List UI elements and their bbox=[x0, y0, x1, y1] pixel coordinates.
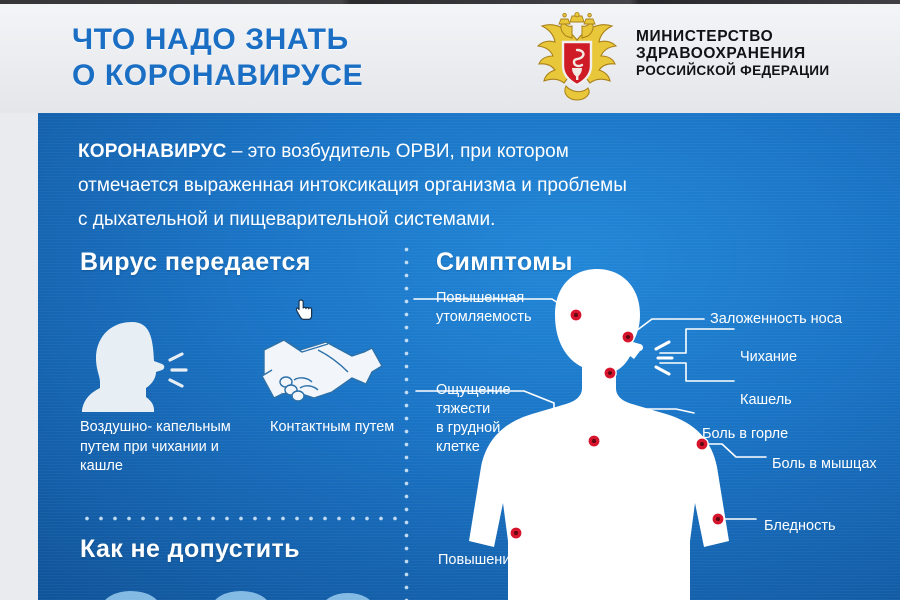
prevention-icon-1 bbox=[102, 591, 160, 600]
symptom-label-sneezing: Чихание bbox=[740, 348, 797, 367]
prevention-icon-2 bbox=[212, 591, 270, 600]
russian-double-headed-eagle-emblem bbox=[528, 12, 626, 104]
ministry-name: МИНИСТЕРСТВО ЗДРАВООХРАНЕНИЯ РОССИЙСКОЙ … bbox=[636, 28, 829, 79]
symptom-label-pallor: Бледность bbox=[764, 517, 836, 536]
page-title-line2: О КОРОНАВИРУСЕ bbox=[72, 58, 502, 94]
intro-line-1: КОРОНАВИРУС – это возбудитель ОРВИ, при … bbox=[78, 135, 868, 169]
prevention-icon-3 bbox=[322, 593, 374, 600]
handshake-icon bbox=[260, 326, 384, 417]
page-title: ЧТО НАДО ЗНАТЬ О КОРОНАВИРУСЕ bbox=[72, 22, 502, 94]
symptom-label-sore-throat: Боль в горле bbox=[702, 425, 788, 444]
symptom-label-fever-chills: Повышение температуры, озноб bbox=[438, 551, 658, 570]
pointing-hand-cursor bbox=[296, 299, 313, 321]
symptom-label-chest-heaviness: Ощущение тяжести в грудной клетке bbox=[436, 381, 511, 457]
caption-airborne: Воздушно- капельным путем при чихании и … bbox=[80, 418, 255, 477]
symptom-label-nasal-congestion: Заложенность носа bbox=[710, 310, 842, 329]
page-title-line1: ЧТО НАДО ЗНАТЬ bbox=[72, 23, 349, 56]
symptom-label-fatigue: Повышенная утомляемость bbox=[436, 289, 532, 327]
intro-paragraph: КОРОНАВИРУС – это возбудитель ОРВИ, при … bbox=[78, 135, 868, 237]
header-band: ЧТО НАДО ЗНАТЬ О КОРОНАВИРУСЕ bbox=[0, 0, 900, 113]
poster-panel: КОРОНАВИРУС – это возбудитель ОРВИ, при … bbox=[38, 113, 900, 600]
screenshot-root: ЧТО НАДО ЗНАТЬ О КОРОНАВИРУСЕ bbox=[0, 0, 900, 600]
intro-line-1-rest: – это возбудитель ОРВИ, при котором bbox=[227, 141, 569, 162]
ministry-line-3: РОССИЙСКОЙ ФЕДЕРАЦИИ bbox=[636, 62, 829, 79]
symptom-label-cough: Кашель bbox=[740, 391, 792, 410]
transmission-heading: Вирус передается bbox=[80, 248, 311, 277]
speaking-head-icon bbox=[80, 318, 196, 419]
intro-line-2: отмечается выраженная интоксикация орган… bbox=[78, 169, 868, 203]
intro-line-3: с дыхательной и пищеварительной системам… bbox=[78, 203, 868, 237]
ministry-line-1: МИНИСТЕРСТВО bbox=[636, 28, 829, 45]
symptom-label-muscle-pain: Боль в мышцах bbox=[772, 455, 877, 474]
ministry-line-2: ЗДРАВООХРАНЕНИЯ bbox=[636, 45, 829, 62]
intro-bold-term: КОРОНАВИРУС bbox=[78, 141, 227, 162]
caption-contact: Контактным путем bbox=[270, 418, 400, 438]
horizontal-dotted-divider bbox=[80, 516, 398, 521]
prevention-heading: Как не допустить bbox=[80, 535, 300, 564]
